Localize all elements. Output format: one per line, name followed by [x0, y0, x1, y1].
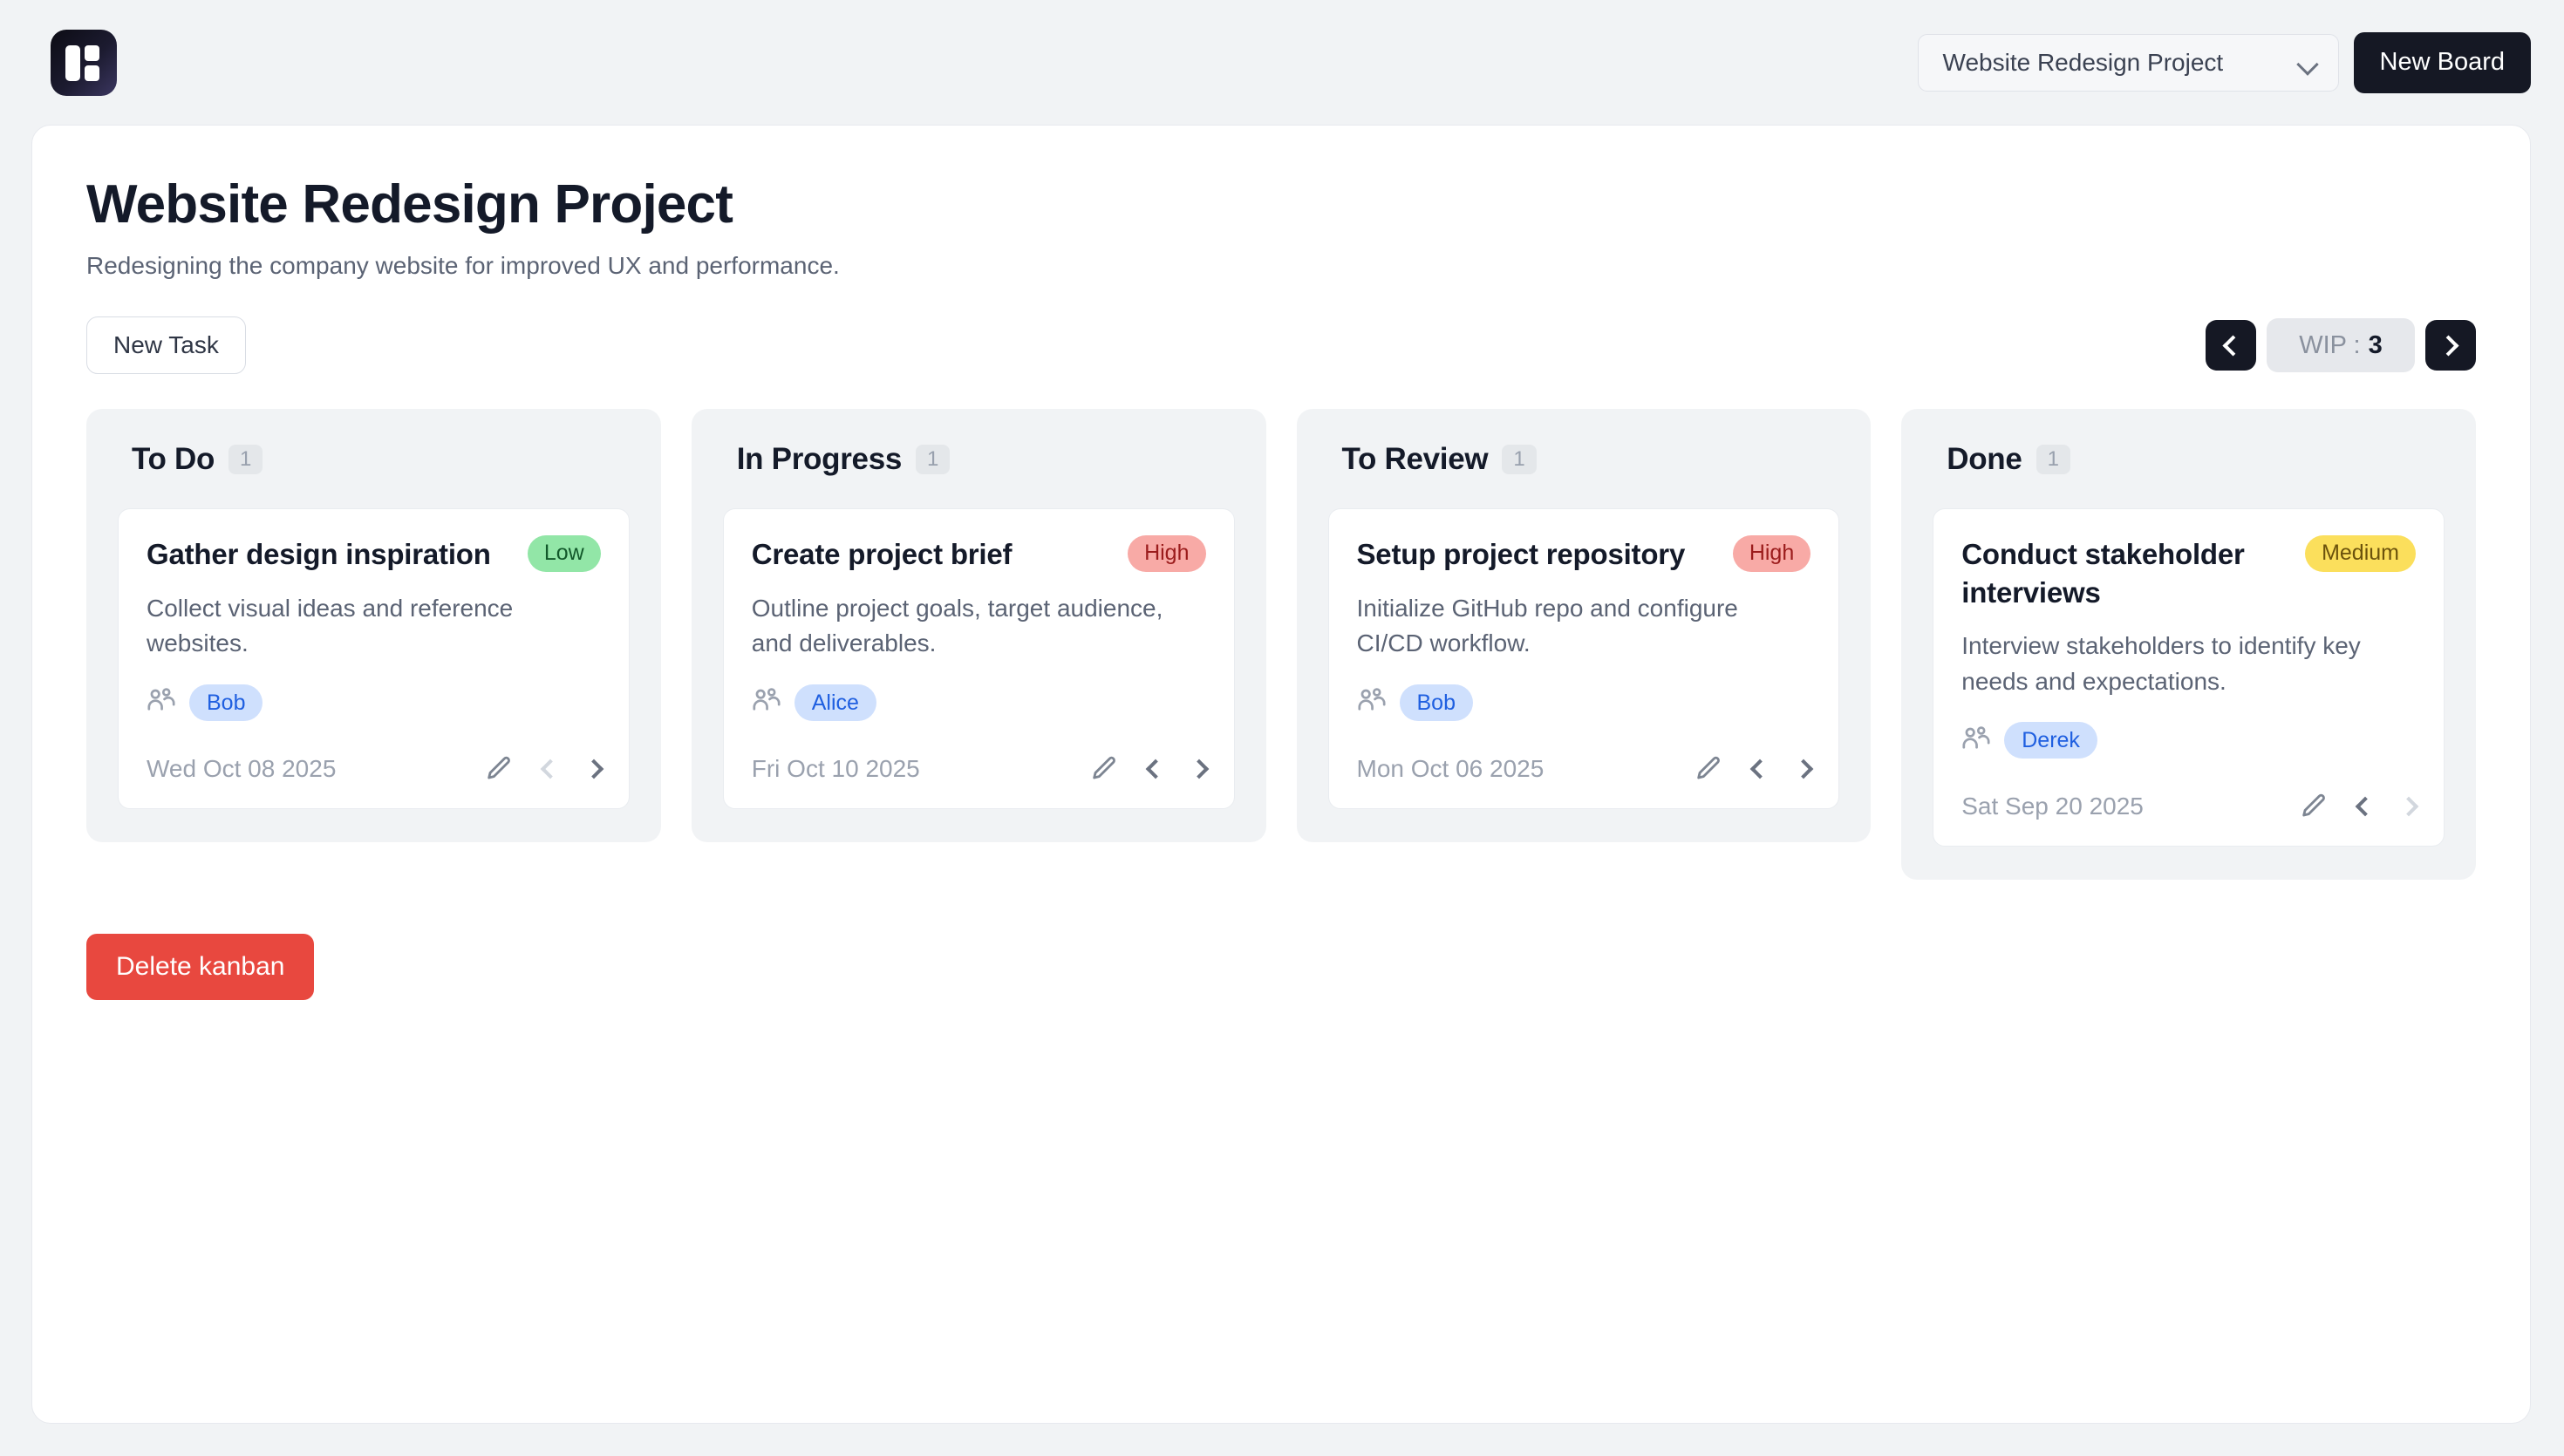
- task-description: Outline project goals, target audience, …: [752, 591, 1206, 662]
- column-header: To Do 1: [118, 442, 630, 477]
- task-card-footer: Sat Sep 20 2025: [1961, 792, 2416, 821]
- task-assignee-row: Derek: [1961, 722, 2416, 759]
- task-title: Gather design inspiration: [147, 535, 491, 574]
- action-row: New Task WIP : 3: [86, 316, 2476, 374]
- priority-badge: Medium: [2305, 535, 2416, 572]
- task-description: Collect visual ideas and reference websi…: [147, 591, 601, 662]
- task-date: Sat Sep 20 2025: [1961, 793, 2144, 820]
- top-bar-controls: Website Redesign Project New Board: [1918, 32, 2531, 93]
- task-actions: [1694, 754, 1810, 784]
- kanban-column: To Do 1 Gather design inspiration Low Co…: [86, 409, 661, 842]
- board-selector[interactable]: Website Redesign Project: [1918, 34, 2339, 92]
- task-card[interactable]: Create project brief High Outline projec…: [723, 508, 1235, 809]
- page-title: Website Redesign Project: [86, 176, 2476, 233]
- move-prev-icon[interactable]: [1753, 762, 1767, 776]
- column-header: Done 1: [1933, 442, 2445, 477]
- task-date: Wed Oct 08 2025: [147, 755, 336, 783]
- column-header: To Review 1: [1328, 442, 1840, 477]
- logo-block-left: [65, 45, 80, 81]
- move-next-icon[interactable]: [587, 762, 601, 776]
- task-card-footer: Fri Oct 10 2025: [752, 754, 1206, 784]
- task-description: Interview stakeholders to identify key n…: [1961, 629, 2416, 699]
- wip-value: 3: [2369, 331, 2383, 360]
- priority-badge: High: [1733, 535, 1810, 572]
- edit-pencil-icon[interactable]: [2299, 792, 2329, 821]
- move-next-icon[interactable]: [1797, 762, 1810, 776]
- task-title: Create project brief: [752, 535, 1013, 574]
- assignee-badge: Derek: [2004, 722, 2097, 759]
- column-count-badge: 1: [916, 445, 950, 474]
- task-card-header: Gather design inspiration Low: [147, 535, 601, 574]
- logo-block-top-right: [85, 45, 99, 61]
- task-card-footer: Wed Oct 08 2025: [147, 754, 601, 784]
- users-icon: [147, 687, 176, 718]
- users-icon: [1357, 687, 1387, 718]
- column-title: To Review: [1342, 442, 1489, 477]
- task-card[interactable]: Setup project repository High Initialize…: [1328, 508, 1840, 809]
- logo-block-bottom-right: [85, 65, 99, 81]
- task-actions: [1089, 754, 1206, 784]
- page-subtitle: Redesigning the company website for impr…: [86, 252, 2476, 280]
- wip-control-group: WIP : 3: [2206, 318, 2476, 372]
- task-date: Mon Oct 06 2025: [1357, 755, 1545, 783]
- column-header: In Progress 1: [723, 442, 1235, 477]
- kanban-column: Done 1 Conduct stakeholder interviews Me…: [1901, 409, 2476, 880]
- kanban-board: To Do 1 Gather design inspiration Low Co…: [86, 409, 2476, 880]
- move-prev-icon[interactable]: [1149, 762, 1163, 776]
- task-title: Setup project repository: [1357, 535, 1686, 574]
- task-card-header: Create project brief High: [752, 535, 1206, 574]
- wip-decrease-button[interactable]: [2206, 320, 2256, 371]
- kanban-column: To Review 1 Setup project repository Hig…: [1297, 409, 1872, 842]
- task-card-header: Conduct stakeholder interviews Medium: [1961, 535, 2416, 611]
- assignee-badge: Bob: [1400, 684, 1473, 721]
- wip-increase-button[interactable]: [2425, 320, 2476, 371]
- assignee-badge: Bob: [189, 684, 263, 721]
- new-task-button[interactable]: New Task: [86, 316, 246, 374]
- column-count-badge: 1: [228, 445, 263, 474]
- task-actions: [484, 754, 601, 784]
- wip-display: WIP : 3: [2267, 318, 2415, 372]
- wip-label: WIP :: [2299, 331, 2360, 360]
- task-description: Initialize GitHub repo and configure CI/…: [1357, 591, 1811, 662]
- move-next-icon[interactable]: [2402, 799, 2416, 813]
- move-prev-icon[interactable]: [2358, 799, 2372, 813]
- task-assignee-row: Bob: [1357, 684, 1811, 721]
- priority-badge: High: [1128, 535, 1205, 572]
- task-assignee-row: Alice: [752, 684, 1206, 721]
- new-board-button[interactable]: New Board: [2354, 32, 2531, 93]
- assignee-badge: Alice: [794, 684, 876, 721]
- column-title: In Progress: [737, 442, 902, 477]
- column-title: To Do: [132, 442, 215, 477]
- edit-pencil-icon[interactable]: [484, 754, 514, 784]
- kanban-column: In Progress 1 Create project brief High …: [692, 409, 1266, 842]
- users-icon: [752, 687, 781, 718]
- top-bar: Website Redesign Project New Board: [0, 0, 2564, 125]
- column-count-badge: 1: [2036, 445, 2070, 474]
- logo-grid: [65, 45, 102, 80]
- delete-kanban-button[interactable]: Delete kanban: [86, 934, 314, 1000]
- kanban-logo-icon[interactable]: [51, 30, 117, 96]
- edit-pencil-icon[interactable]: [1694, 754, 1723, 784]
- edit-pencil-icon[interactable]: [1089, 754, 1119, 784]
- chevron-left-icon: [2222, 335, 2243, 356]
- users-icon: [1961, 725, 1991, 756]
- task-title: Conduct stakeholder interviews: [1961, 535, 2291, 611]
- move-next-icon[interactable]: [1192, 762, 1206, 776]
- task-card-header: Setup project repository High: [1357, 535, 1811, 574]
- task-card[interactable]: Gather design inspiration Low Collect vi…: [118, 508, 630, 809]
- priority-badge: Low: [528, 535, 601, 572]
- move-prev-icon[interactable]: [543, 762, 557, 776]
- task-actions: [2299, 792, 2416, 821]
- chevron-down-icon: [2298, 57, 2317, 68]
- task-card[interactable]: Conduct stakeholder interviews Medium In…: [1933, 508, 2445, 847]
- main-panel: Website Redesign Project Redesigning the…: [31, 125, 2531, 1424]
- task-assignee-row: Bob: [147, 684, 601, 721]
- task-date: Fri Oct 10 2025: [752, 755, 920, 783]
- chevron-right-icon: [2438, 335, 2458, 356]
- column-count-badge: 1: [1502, 445, 1536, 474]
- task-card-footer: Mon Oct 06 2025: [1357, 754, 1811, 784]
- board-selector-value: Website Redesign Project: [1943, 49, 2224, 77]
- column-title: Done: [1947, 442, 2022, 477]
